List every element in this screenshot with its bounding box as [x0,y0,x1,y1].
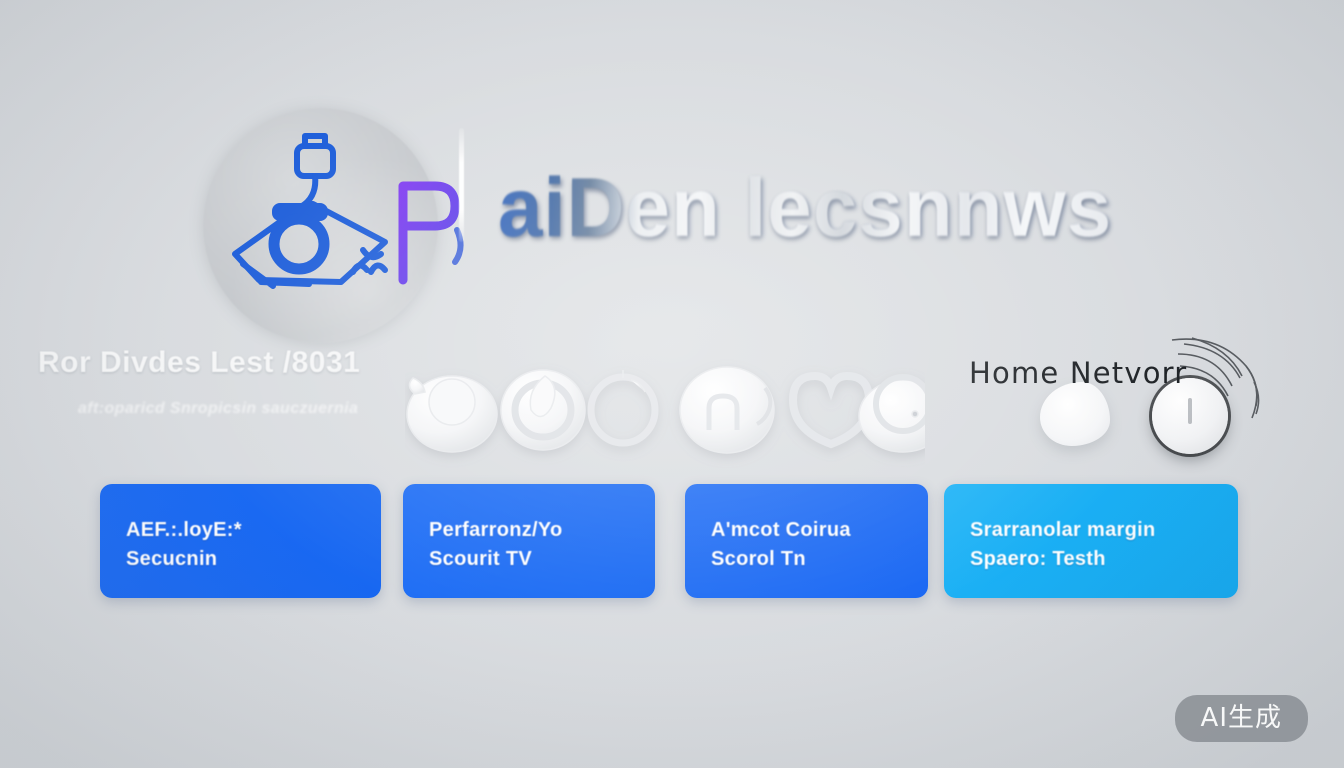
card-perfarronzyo-scourit-tv[interactable]: Perfarronz/Yo Scourit TV [403,484,655,598]
right-panel-title: Home Netvorr [969,356,1187,390]
blob-heart [793,376,869,444]
blob-speaker [501,370,585,450]
card-line2: Secucnin [126,545,369,574]
device-blob-row [405,358,925,468]
blob-bulb [591,370,655,443]
page-title: aiDen lecsnnws [498,166,1112,249]
banner-stage: aiDen lecsnnws aiDen lecsnnws Ror Divdes… [0,0,1344,768]
card-line1: Perfarronz/Yo [429,516,643,545]
card-line1: A'mcot Coirua [711,516,916,545]
card-line2: Scorol Tn [711,545,916,574]
card-line2: Scourit TV [429,545,643,574]
card-row: AEF.:.loyE:* Secucnin Perfarronz/Yo Scou… [0,484,1344,600]
card-line1: AEF.:.loyE:* [126,516,369,545]
ai-generated-badge: AI生成 [1175,695,1308,742]
blob-dome [680,367,774,453]
left-panel-title: Ror Divdes Lest /8031 [38,348,378,378]
card-srarranolarmargin-spaero-testh[interactable]: Srarranolar margin Spaero: Testh [944,484,1238,598]
card-line1: Srarranolar margin [970,516,1226,545]
left-panel: Ror Divdes Lest /8031 aft:oparicd Snropi… [38,348,378,418]
title-divider [459,128,464,242]
card-aef-securin[interactable]: AEF.:.loyE:* Secucnin [100,484,381,598]
card-line2: Spaero: Testh [970,545,1226,574]
left-panel-subtitle: aft:oparicd Snropicsin sauczuernia [78,400,378,418]
blob-camera [407,376,497,452]
logo-mark [203,108,438,343]
puff-blob-icon [1040,382,1110,446]
card-amcot-coirua-scorol-tn[interactable]: A'mcot Coirua Scorol Tn [685,484,928,598]
